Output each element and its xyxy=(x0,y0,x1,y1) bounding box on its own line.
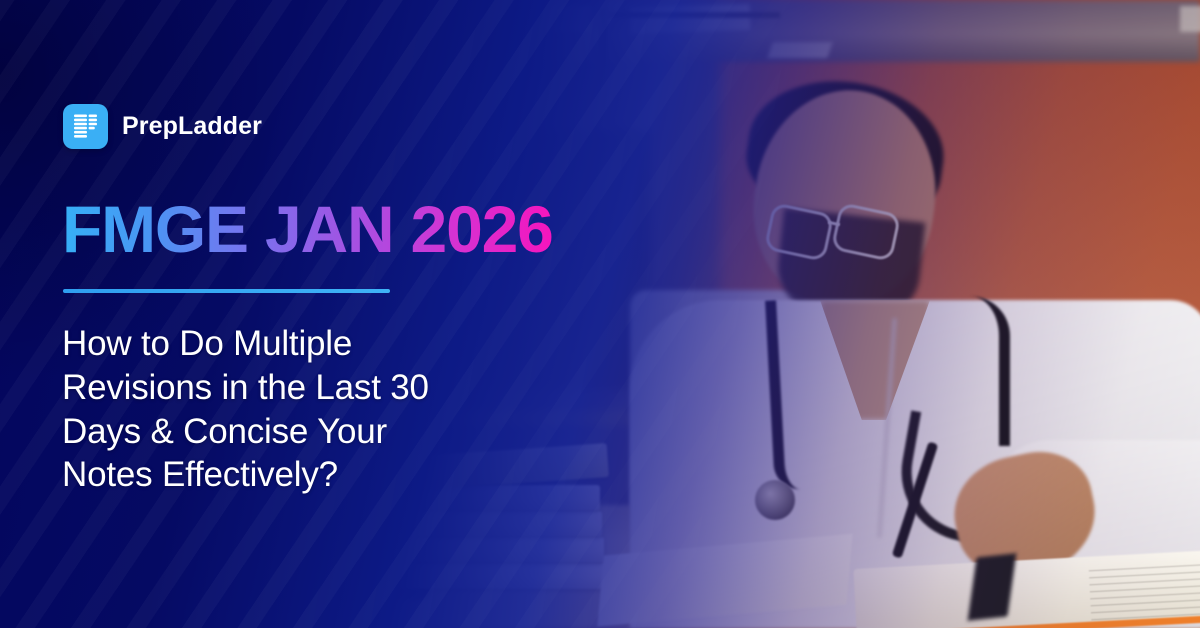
promo-banner: PrepLadder FMGE JAN 2026 How to Do Multi… xyxy=(0,0,1200,628)
banner-subheadline: How to Do Multiple Revisions in the Last… xyxy=(62,322,582,497)
banner-content: PrepLadder FMGE JAN 2026 How to Do Multi… xyxy=(0,0,1200,628)
prepladder-logo-icon xyxy=(63,104,108,149)
subheadline-line: Notes Effectively? xyxy=(62,453,582,497)
brand-name: PrepLadder xyxy=(122,112,262,141)
banner-headline: FMGE JAN 2026 xyxy=(62,196,553,262)
headline-divider xyxy=(63,289,390,293)
subheadline-line: Revisions in the Last 30 xyxy=(62,366,582,410)
subheadline-line: Days & Concise Your xyxy=(62,410,582,454)
subheadline-line: How to Do Multiple xyxy=(62,322,582,366)
brand-lockup[interactable]: PrepLadder xyxy=(63,104,262,149)
